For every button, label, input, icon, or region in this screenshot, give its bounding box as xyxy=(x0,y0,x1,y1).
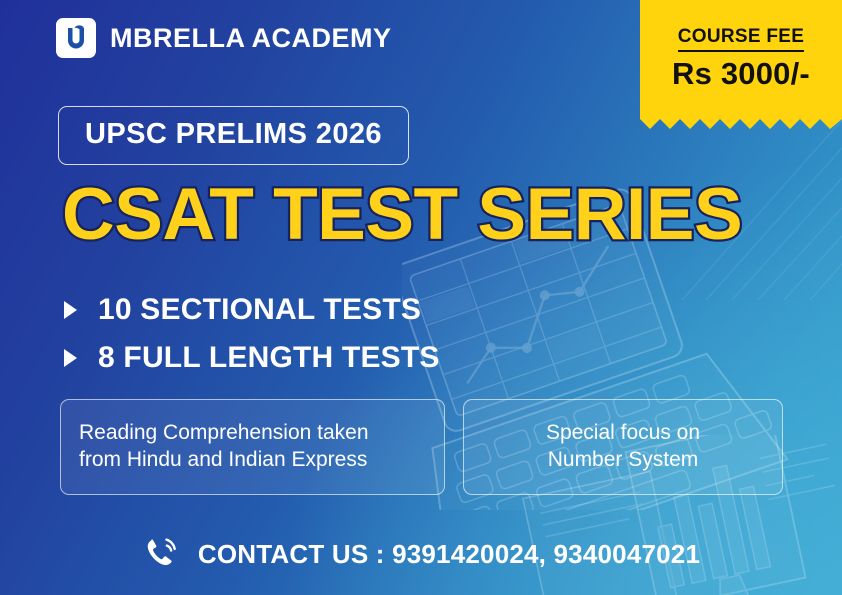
feature-line-2: Number System xyxy=(546,447,700,474)
brand-logo xyxy=(56,18,96,58)
list-item: 10 SECTIONAL TESTS xyxy=(64,286,440,334)
course-fee-badge-body: COURSE FEE Rs 3000/- xyxy=(640,0,842,118)
exam-pill: UPSC PRELIMS 2026 xyxy=(58,106,409,165)
test-count-list: 10 SECTIONAL TESTS 8 FULL LENGTH TESTS xyxy=(64,286,440,382)
phone-ringing-icon xyxy=(142,535,180,573)
list-item-label: 10 SECTIONAL TESTS xyxy=(98,293,421,327)
list-item-label: 8 FULL LENGTH TESTS xyxy=(98,341,440,375)
course-fee-badge: COURSE FEE Rs 3000/- xyxy=(640,0,842,132)
zigzag-edge-icon xyxy=(640,113,842,135)
feature-box-reading-comprehension: Reading Comprehension taken from Hindu a… xyxy=(60,399,445,495)
feature-box-group: Reading Comprehension taken from Hindu a… xyxy=(60,399,783,495)
brand-name: MBRELLA ACADEMY xyxy=(110,23,391,54)
feature-box-number-system: Special focus on Number System xyxy=(463,399,783,495)
brand-header: MBRELLA ACADEMY xyxy=(56,18,391,58)
exam-pill-label: UPSC PRELIMS 2026 xyxy=(85,118,382,151)
feature-line-2: from Hindu and Indian Express xyxy=(79,447,369,474)
triangle-right-icon xyxy=(64,301,77,319)
triangle-right-icon xyxy=(64,349,77,367)
list-item: 8 FULL LENGTH TESTS xyxy=(64,334,440,382)
page-title: CSAT TEST SERIES xyxy=(62,173,742,256)
contact-bar: CONTACT US : 9391420024, 9340047021 xyxy=(0,535,842,573)
course-fee-label: COURSE FEE xyxy=(678,26,805,52)
feature-line-1: Reading Comprehension taken xyxy=(79,420,369,447)
contact-text: CONTACT US : 9391420024, 9340047021 xyxy=(198,539,700,570)
umbrella-u-logo-icon xyxy=(63,25,89,51)
feature-text: Reading Comprehension taken from Hindu a… xyxy=(79,420,369,474)
course-fee-amount: Rs 3000/- xyxy=(672,56,810,92)
promo-banner: MBRELLA ACADEMY COURSE FEE Rs 3000/- UPS… xyxy=(0,0,842,595)
feature-text: Special focus on Number System xyxy=(546,420,700,474)
feature-line-1: Special focus on xyxy=(546,420,700,447)
